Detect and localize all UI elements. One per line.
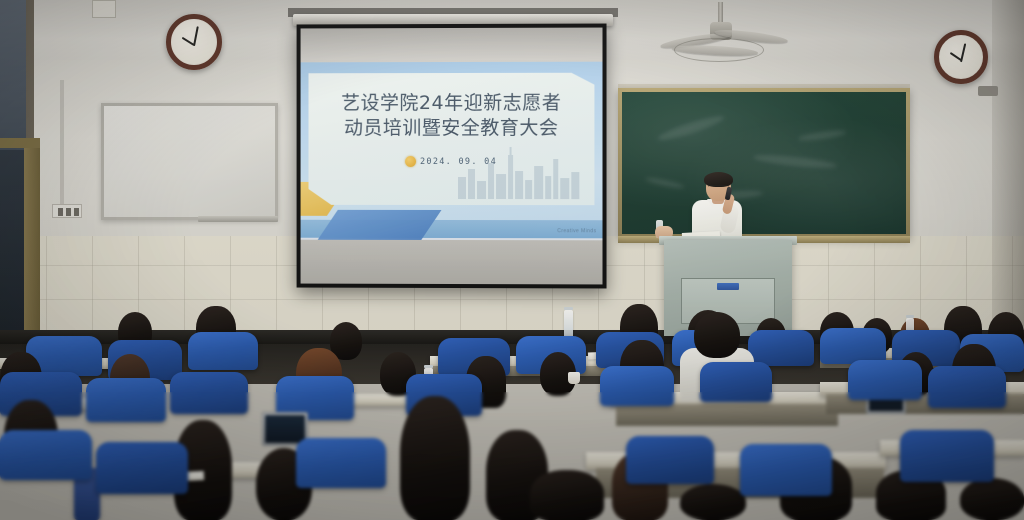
laptop-screen [265, 415, 305, 443]
desk-side [616, 404, 838, 426]
chair[interactable] [928, 366, 1006, 408]
door-frame-top [0, 138, 40, 148]
slide-title-line-2: 动员培训暨安全教育大会 [309, 116, 595, 141]
screen-surface: 艺设学院24年迎新志愿者 动员培训暨安全教育大会 2024. 09. 04 Cr… [301, 28, 603, 285]
screen-blank-area [301, 240, 603, 285]
clock-badge-icon [405, 156, 416, 167]
chalkboard [622, 92, 906, 234]
projection-screen: 艺设学院24年迎新志愿者 动员培训暨安全教育大会 2024. 09. 04 Cr… [297, 24, 607, 289]
chalkboard-frame [618, 88, 910, 238]
outlet-slot [74, 208, 79, 216]
bottle-cap [906, 315, 914, 318]
lectern-sticker [717, 283, 739, 290]
wall-mount-bracket [978, 86, 998, 96]
bottle-cap [564, 307, 573, 310]
power-outlet-icon [52, 204, 82, 218]
chair[interactable] [188, 332, 258, 370]
junction-box [92, 0, 116, 18]
chair[interactable] [96, 442, 188, 494]
student-head [694, 312, 740, 358]
outlet-slot [58, 208, 63, 216]
wall-conduit [60, 80, 64, 206]
wall-clock-right [934, 30, 988, 84]
paper-cup [568, 372, 580, 384]
outlet-slot [66, 208, 71, 216]
slide-date: 2024. 09. 04 [420, 156, 497, 166]
chair[interactable] [700, 362, 772, 402]
slide-title-line-1: 艺设学院24年迎新志愿者 [309, 91, 595, 116]
student-head [680, 484, 746, 520]
slide-title: 艺设学院24年迎新志愿者 动员培训暨安全教育大会 [309, 91, 595, 141]
ceiling-fan-icon [666, 2, 786, 58]
slide-date-row: 2024. 09. 04 [309, 156, 595, 167]
wall-corner-shadow [992, 0, 1024, 340]
slide-title-card: 艺设学院24年迎新志愿者 动员培训暨安全教育大会 2024. 09. 04 [309, 73, 595, 205]
door-panel[interactable] [0, 150, 26, 330]
chair[interactable] [748, 330, 814, 366]
chair[interactable] [740, 444, 832, 496]
chair[interactable] [600, 366, 674, 406]
student-head [530, 470, 604, 520]
city-skyline-graphic [456, 147, 584, 199]
bottle-cap [424, 365, 433, 368]
whiteboard [101, 103, 278, 220]
chair[interactable] [296, 438, 386, 488]
chair[interactable] [820, 328, 886, 364]
fan-cage [674, 38, 764, 62]
lecture-hall-photo: 艺设学院24年迎新志愿者 动员培训暨安全教育大会 2024. 09. 04 Cr… [0, 0, 1024, 520]
student-head [960, 478, 1024, 520]
chair[interactable] [170, 372, 248, 414]
whiteboard-marker-tray [198, 216, 278, 222]
door-window-icon [0, 0, 26, 150]
door-frame [24, 140, 40, 330]
chair[interactable] [626, 436, 714, 484]
chair[interactable] [0, 430, 92, 480]
chair[interactable] [848, 360, 922, 400]
slide-watermark: Creative Minds [557, 228, 596, 234]
wall-clock-left [166, 14, 222, 70]
chair[interactable] [86, 378, 166, 422]
projected-slide: 艺设学院24年迎新志愿者 动员培训暨安全教育大会 2024. 09. 04 Cr… [301, 62, 603, 239]
chair[interactable] [900, 430, 994, 482]
student-head [400, 396, 470, 520]
fan-rod [718, 2, 723, 24]
